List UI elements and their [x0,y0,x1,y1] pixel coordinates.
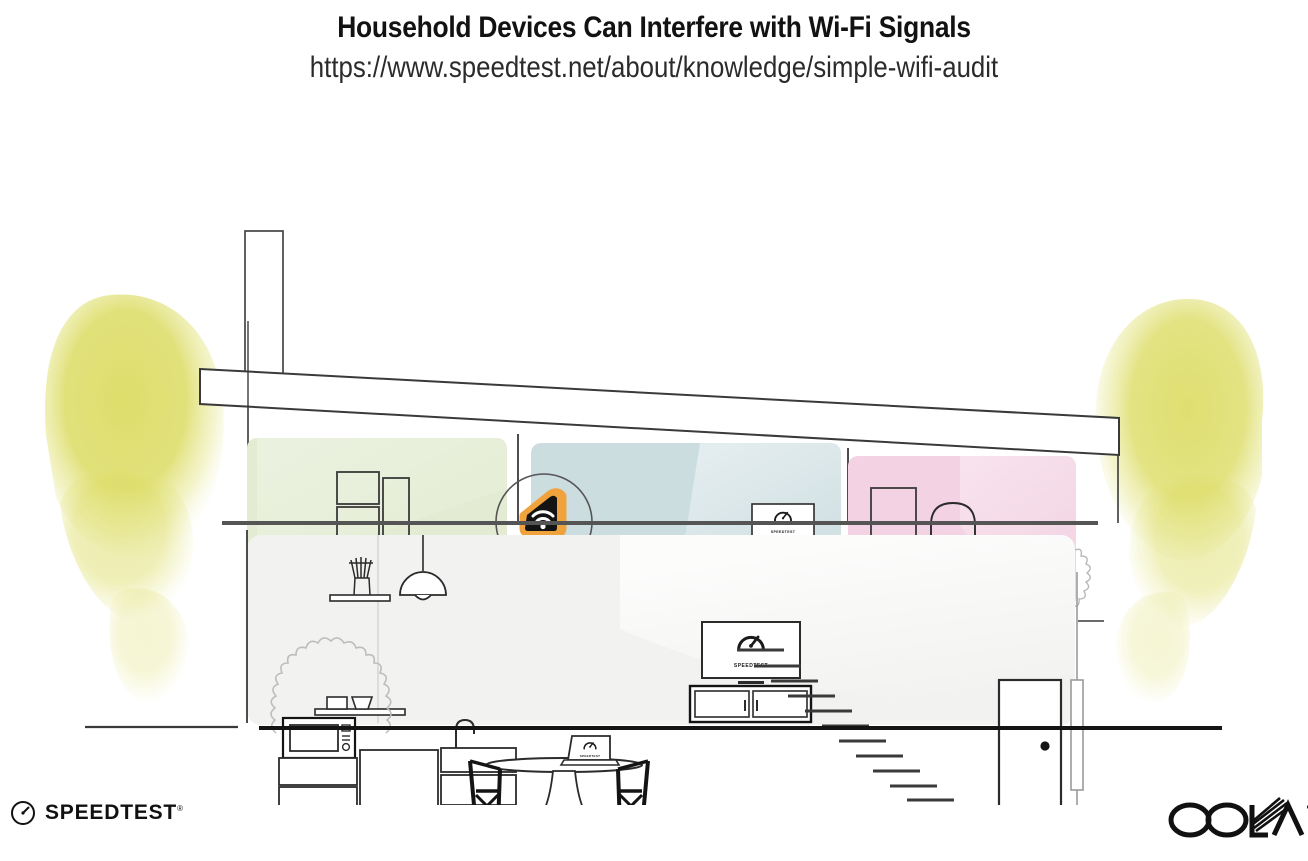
ookla-logo[interactable] [1164,797,1308,841]
chimney [245,231,283,374]
page-title: Household Devices Can Interfere with Wi-… [78,0,1229,46]
ookla-wordmark [1164,797,1308,841]
laptop-dining-label: SPEEDTEST [580,754,601,758]
foliage-right [1096,299,1264,703]
tv-console [690,686,811,722]
laptop-dining[interactable]: SPEEDTEST [561,736,619,765]
room-lower-floor [247,530,1075,725]
illustration-page: Household Devices Can Interfere with Wi-… [0,0,1308,861]
footer: SPEEDTEST® [0,775,1308,861]
house-cutaway-illustration: SPEEDTEST [0,105,1308,805]
speedometer-icon [10,800,36,826]
ground [85,727,1222,728]
door-knob-icon[interactable] [1040,741,1049,750]
header: Household Devices Can Interfere with Wi-… [0,0,1308,85]
living-room-tv-group[interactable]: SPEEDTEST [702,622,800,684]
speedtest-logo[interactable]: SPEEDTEST® [10,800,184,826]
registered-mark: ® [177,804,184,813]
page-url: https://www.speedtest.net/about/knowledg… [92,46,1217,85]
foliage-left [45,294,224,702]
laptop-bedroom-label: SPEEDTEST [771,530,796,534]
speedtest-wordmark: SPEEDTEST® [45,801,184,825]
